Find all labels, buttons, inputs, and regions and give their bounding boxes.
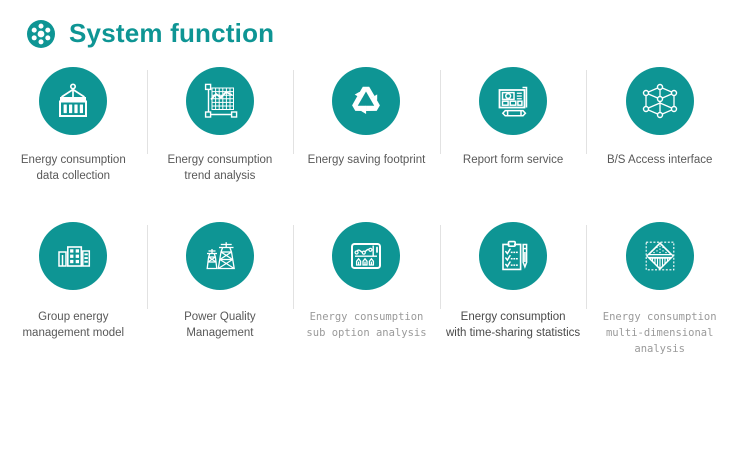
- wireframe-cube-nodes-icon: [626, 67, 694, 135]
- feature-item-label: Energy consumption data collection: [0, 152, 147, 184]
- feature-item-energy-consumption-time-sharing-statistics[interactable]: Energy consumption with time-sharing sta…: [440, 219, 587, 357]
- feature-item-power-quality-management[interactable]: Power Quality Management: [147, 219, 294, 357]
- page-title: System function: [69, 20, 274, 46]
- grid-trend-chart-icon: [186, 67, 254, 135]
- feature-item-label: Energy consumption with time-sharing sta…: [440, 309, 587, 341]
- buildings-group-icon: [39, 222, 107, 290]
- feature-item-energy-consumption-sub-option-analysis[interactable]: Energy consumption sub option analysis: [293, 219, 440, 357]
- shipping-container-icon: [39, 67, 107, 135]
- feature-item-label: Report form service: [440, 152, 587, 168]
- flower-dots-circle-icon: [26, 19, 56, 49]
- feature-item-group-energy-management-model[interactable]: Group energy management model: [0, 219, 147, 357]
- clipboard-checklist-pen-icon: [479, 222, 547, 290]
- multi-dimensional-cube-icon: [626, 222, 694, 290]
- feature-grid: Energy consumption data collection: [0, 52, 733, 357]
- feature-row: Group energy management model: [0, 219, 733, 357]
- feature-item-energy-consumption-multi-dimensional-analysis[interactable]: Energy consumption multi-dimensional ana…: [586, 219, 733, 357]
- feature-item-label: Power Quality Management: [147, 309, 294, 341]
- report-form-pencil-icon: [479, 67, 547, 135]
- feature-item-label: Group energy management model: [0, 309, 147, 341]
- feature-item-energy-saving-footprint[interactable]: Energy saving footprint: [293, 64, 440, 184]
- recycle-icon: [332, 67, 400, 135]
- page-header: System function: [0, 0, 733, 52]
- feature-item-energy-consumption-trend-analysis[interactable]: Energy consumption trend analysis: [147, 64, 294, 184]
- feature-item-energy-consumption-data-collection[interactable]: Energy consumption data collection: [0, 64, 147, 184]
- feature-item-report-form-service[interactable]: Report form service: [440, 64, 587, 184]
- feature-item-bs-access-interface[interactable]: B/S Access interface: [586, 64, 733, 184]
- feature-item-label: Energy consumption multi-dimensional ana…: [586, 309, 733, 357]
- feature-item-label: B/S Access interface: [586, 152, 733, 168]
- panel-chart-bars-icon: [332, 222, 400, 290]
- power-towers-icon: [186, 222, 254, 290]
- feature-item-label: Energy saving footprint: [293, 152, 440, 168]
- feature-row: Energy consumption data collection: [0, 64, 733, 184]
- feature-item-label: Energy consumption sub option analysis: [293, 309, 440, 341]
- feature-item-label: Energy consumption trend analysis: [147, 152, 294, 184]
